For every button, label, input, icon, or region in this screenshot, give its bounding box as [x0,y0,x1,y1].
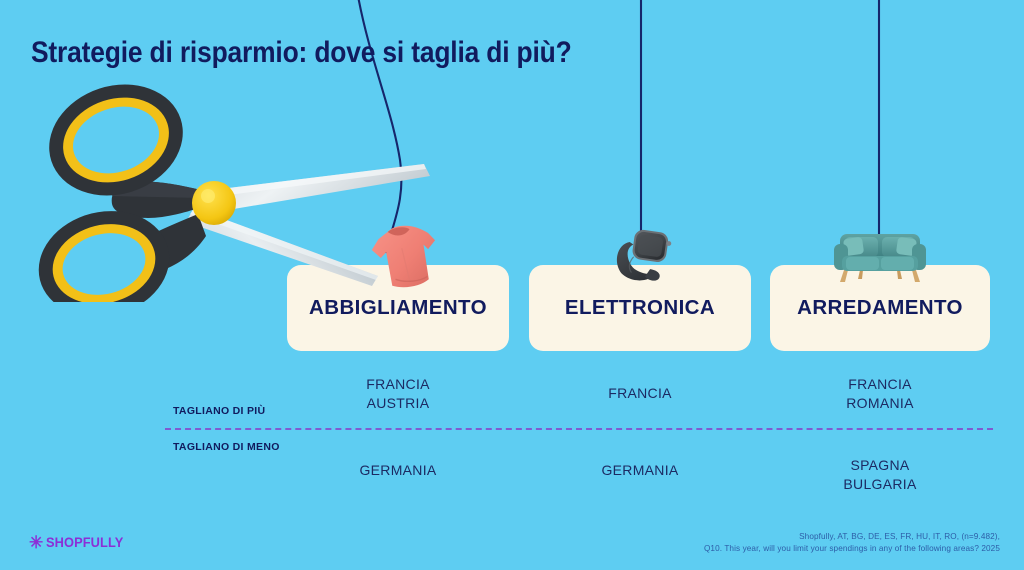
infographic-canvas: Strategie di risparmio: dove si taglia d… [0,0,1024,570]
country-name: AUSTRIA [287,394,509,413]
cell-piu-elettronica: FRANCIA [529,384,751,403]
country-name: FRANCIA [287,375,509,394]
country-name: SPAGNA [770,456,990,475]
category-label: ARREDAMENTO [797,296,963,320]
country-name: BULGARIA [770,475,990,494]
tshirt-image [363,222,447,294]
row-label-tagliano-di-meno: TAGLIANO DI MENO [173,441,280,453]
sofa-image [828,224,932,286]
source-footnote: Shopfully, AT, BG, DE, ES, FR, HU, IT, R… [704,531,1000,555]
cell-meno-abbigliamento: GERMANIA [287,461,509,480]
page-title: Strategie di risparmio: dove si taglia d… [31,36,572,70]
country-name: GERMANIA [529,461,751,480]
footnote-line-1: Shopfully, AT, BG, DE, ES, FR, HU, IT, R… [704,531,1000,543]
country-name: FRANCIA [770,375,990,394]
country-name: ROMANIA [770,394,990,413]
smartwatch-image [608,224,678,286]
cell-piu-abbigliamento: FRANCIA AUSTRIA [287,375,509,412]
row-divider [165,428,993,430]
shopfully-logo[interactable]: ✳ SHOPFULLY [29,534,128,551]
logo-wordmark: SHOPFULLY [46,535,123,550]
country-name: FRANCIA [529,384,751,403]
footnote-line-2: Q10. This year, will you limit your spen… [704,543,1000,555]
row-label-tagliano-di-piu: TAGLIANO DI PIÙ [173,405,265,417]
country-name: GERMANIA [287,461,509,480]
cell-piu-arredamento: FRANCIA ROMANIA [770,375,990,412]
category-label: ELETTRONICA [565,296,715,320]
cell-meno-arredamento: SPAGNA BULGARIA [770,456,990,493]
asterisk-icon: ✳ [29,534,43,551]
cell-meno-elettronica: GERMANIA [529,461,751,480]
